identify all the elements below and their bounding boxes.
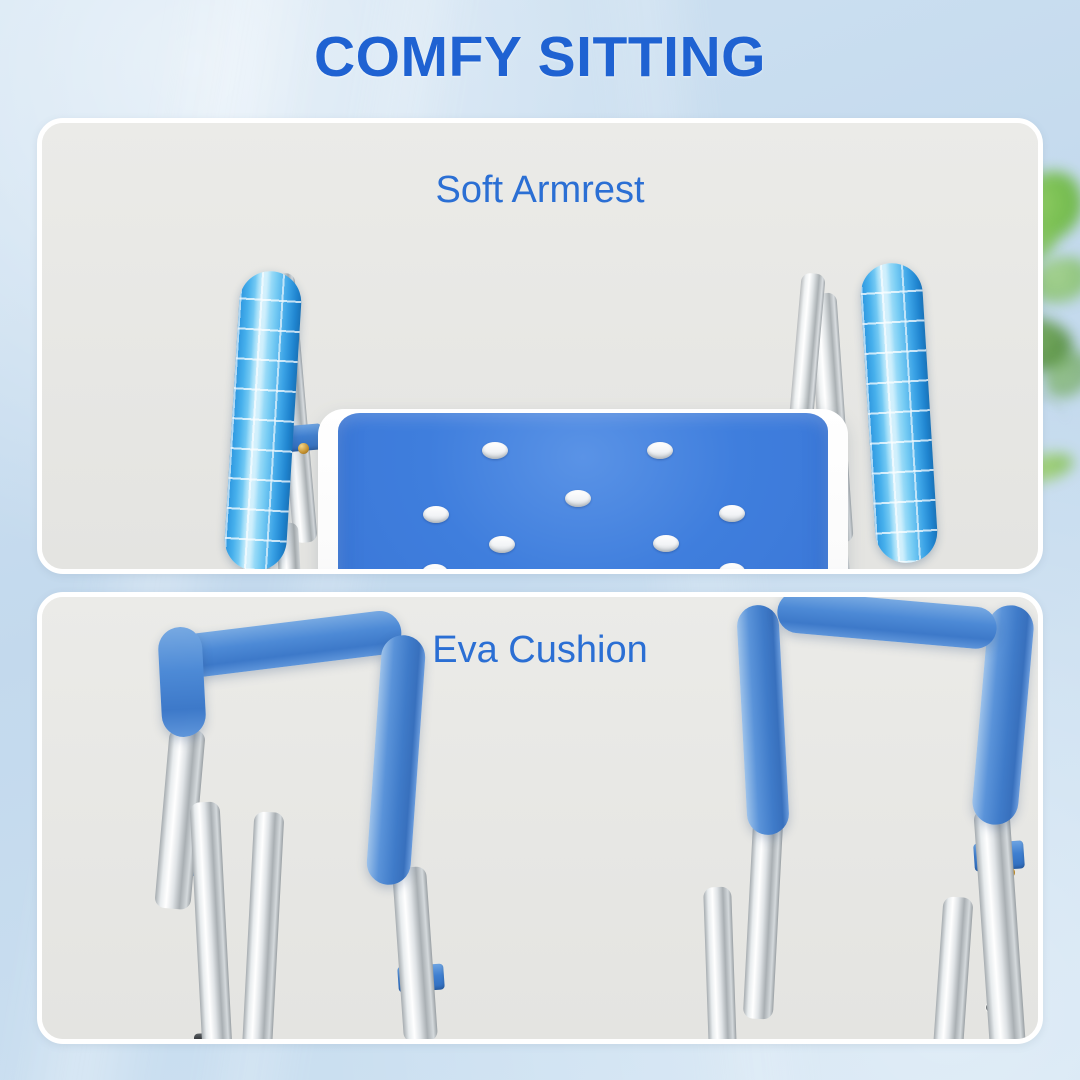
drain-hole [489, 536, 515, 553]
frame-tube-left-rear [392, 866, 438, 1043]
feature-panel-soft-armrest: Soft Armrest [37, 118, 1043, 574]
frame-leg-right-rear [703, 887, 737, 1044]
height-adjust-hole-right-2 [835, 571, 844, 574]
drain-hole [565, 490, 591, 507]
drain-hole [719, 563, 745, 574]
armrest-grip-right [859, 261, 939, 564]
drain-hole [647, 442, 673, 459]
rubber-foot-left-rear [248, 1042, 282, 1044]
height-adjust-hole-left-2 [258, 571, 267, 574]
brass-screw-left [298, 443, 309, 454]
frame-leg-left-rear [242, 811, 285, 1044]
page-title: COMFY SITTING [0, 24, 1080, 90]
frame-leg-right-front [932, 896, 973, 1044]
drain-hole [482, 442, 508, 459]
feature-panel-eva-cushion: Eva Cushion [37, 592, 1043, 1044]
drain-hole [423, 506, 449, 523]
drain-hole [653, 535, 679, 552]
frame-tube-right-rear [743, 818, 783, 1019]
rubber-foot-right [980, 1040, 1015, 1044]
drain-hole [422, 564, 448, 574]
panel-label-soft-armrest: Soft Armrest [42, 169, 1038, 212]
panel-label-eva-cushion: Eva Cushion [42, 629, 1038, 672]
frame-leg-left-front [189, 801, 232, 1044]
drain-hole [719, 505, 745, 522]
